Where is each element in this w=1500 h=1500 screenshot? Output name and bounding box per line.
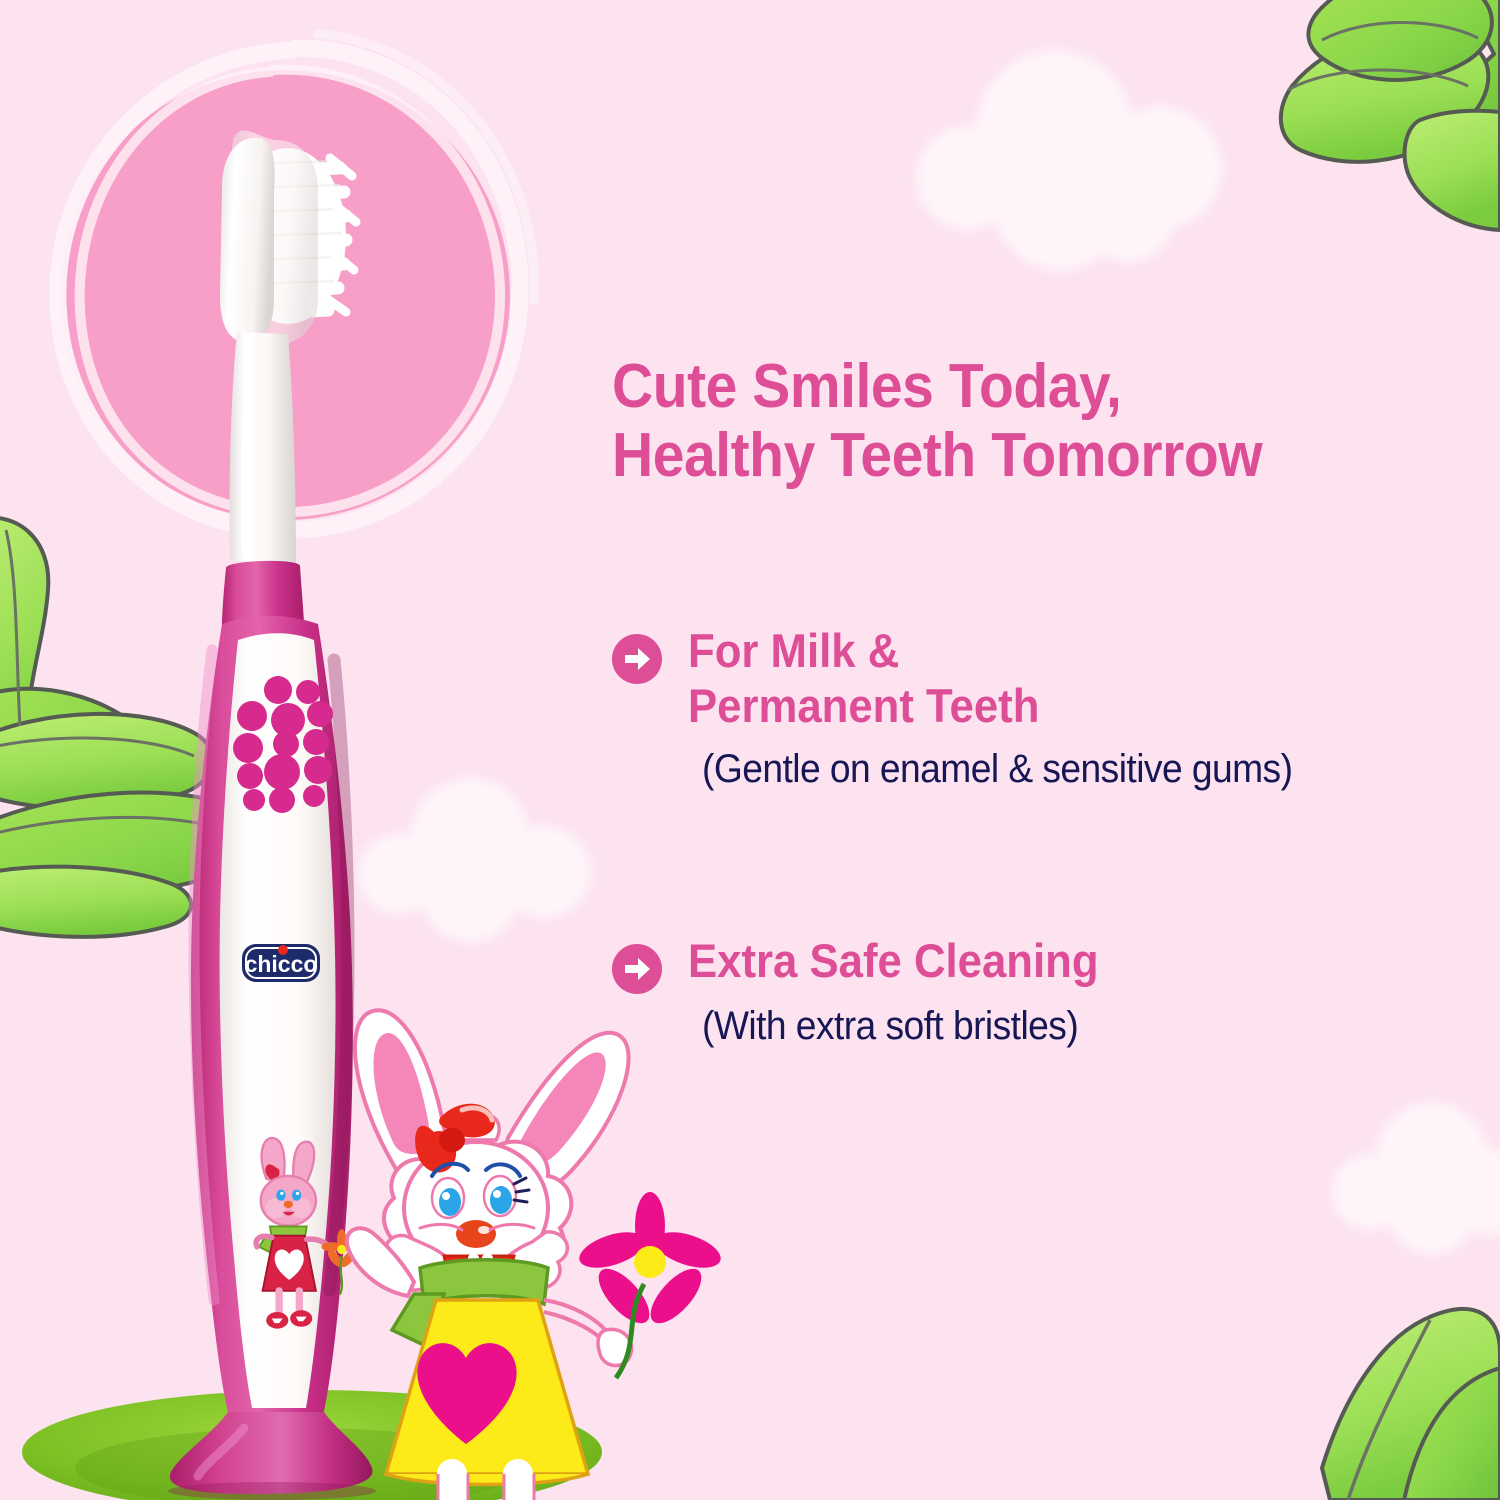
feature-bullet-2: Extra Safe Cleaning (With extra soft bri… bbox=[612, 934, 1482, 1049]
toothbrush-suction-base bbox=[170, 1412, 373, 1494]
feature-bullet-2-subtitle: (With extra soft bristles) bbox=[702, 1004, 1427, 1049]
toothbrush-head-side bbox=[220, 138, 275, 342]
chicco-logo-text: chicco bbox=[245, 951, 318, 977]
arrow-right-circle-icon bbox=[612, 944, 662, 994]
product-banner: chicco bbox=[0, 0, 1500, 1500]
chicco-logo: chicco bbox=[242, 944, 320, 982]
feature-bullet-1: For Milk & Permanent Teeth (Gentle on en… bbox=[612, 624, 1482, 792]
toothbrush-neck bbox=[229, 332, 296, 566]
toothbrush: chicco bbox=[168, 130, 376, 1500]
bunny-nose bbox=[456, 1220, 496, 1248]
page-title: Cute Smiles Today, Healthy Teeth Tomorro… bbox=[612, 352, 1412, 491]
bunny-mascot bbox=[347, 1010, 725, 1500]
arrow-right-circle-icon bbox=[612, 634, 662, 684]
copy-column: Cute Smiles Today, Healthy Teeth Tomorro… bbox=[612, 352, 1482, 491]
feature-bullet-1-title: For Milk & Permanent Teeth bbox=[688, 624, 1039, 733]
feature-bullet-2-title: Extra Safe Cleaning bbox=[688, 934, 1099, 989]
feature-bullet-1-subtitle: (Gentle on enamel & sensitive gums) bbox=[702, 747, 1427, 792]
